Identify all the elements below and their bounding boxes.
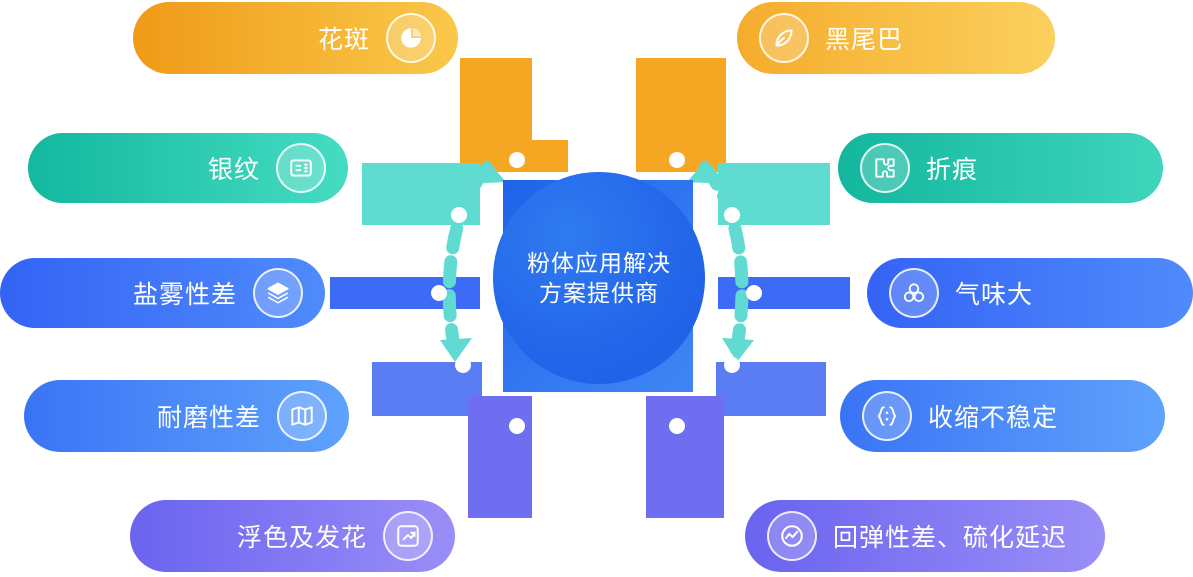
book-open-icon bbox=[277, 391, 327, 441]
diagram-canvas: 粉体应用解决 方案提供商 花斑 银纹 盐雾性差 bbox=[0, 0, 1193, 577]
node-right-4[interactable]: 收缩不稳定 bbox=[840, 380, 1165, 452]
node-left-5-label: 浮色及发花 bbox=[237, 518, 367, 554]
node-left-2-label: 银纹 bbox=[208, 150, 260, 186]
connector-dot bbox=[509, 152, 525, 168]
arrow-head-left bbox=[468, 160, 506, 184]
node-right-1[interactable]: 黑尾巴 bbox=[737, 2, 1055, 74]
node-right-4-label: 收缩不稳定 bbox=[928, 398, 1058, 434]
center-label-line1: 粉体应用解决 bbox=[527, 248, 671, 278]
connector-dot bbox=[669, 152, 685, 168]
node-left-3[interactable]: 盐雾性差 bbox=[0, 258, 325, 328]
wave-chart-icon bbox=[767, 511, 817, 561]
brackets-icon bbox=[862, 391, 912, 441]
connector-dot bbox=[509, 418, 525, 434]
connector-dot bbox=[455, 357, 471, 373]
molecule-icon bbox=[889, 268, 939, 318]
node-right-2-label: 折痕 bbox=[926, 150, 978, 186]
node-left-3-label: 盐雾性差 bbox=[133, 275, 237, 311]
node-right-2[interactable]: 折痕 bbox=[838, 133, 1163, 203]
node-right-3-label: 气味大 bbox=[955, 275, 1033, 311]
node-right-1-label: 黑尾巴 bbox=[825, 20, 903, 56]
pie-chart-icon bbox=[386, 13, 436, 63]
node-left-4[interactable]: 耐磨性差 bbox=[24, 380, 349, 452]
connector-dot bbox=[724, 207, 740, 223]
layers-icon bbox=[253, 268, 303, 318]
connector-dot bbox=[669, 418, 685, 434]
node-right-5[interactable]: 回弹性差、硫化延迟 bbox=[745, 500, 1105, 572]
leaf-icon bbox=[759, 13, 809, 63]
node-right-5-label: 回弹性差、硫化延迟 bbox=[833, 518, 1067, 554]
node-left-5[interactable]: 浮色及发花 bbox=[130, 500, 455, 572]
connector-dot bbox=[431, 285, 447, 301]
connector-dot bbox=[746, 285, 762, 301]
connector-dot bbox=[451, 207, 467, 223]
connector-dot bbox=[724, 357, 740, 373]
node-left-4-label: 耐磨性差 bbox=[157, 398, 261, 434]
center-label-line2: 方案提供商 bbox=[527, 278, 671, 308]
node-left-1-label: 花斑 bbox=[318, 20, 370, 56]
node-right-3[interactable]: 气味大 bbox=[867, 258, 1193, 328]
puzzle-icon bbox=[860, 143, 910, 193]
center-node[interactable]: 粉体应用解决 方案提供商 bbox=[493, 172, 705, 384]
id-card-icon bbox=[276, 143, 326, 193]
trend-up-icon bbox=[383, 511, 433, 561]
node-left-2[interactable]: 银纹 bbox=[28, 133, 348, 203]
node-left-1[interactable]: 花斑 bbox=[133, 2, 458, 74]
